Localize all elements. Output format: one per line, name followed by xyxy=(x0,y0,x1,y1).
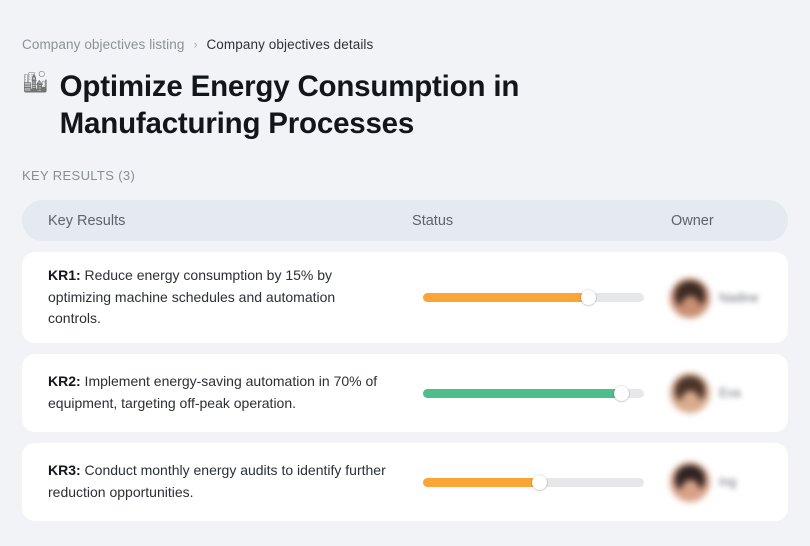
progress-slider[interactable] xyxy=(423,293,644,302)
progress-slider-fill xyxy=(423,478,540,487)
page-title-row: 🏙 Optimize Energy Consumption in Manufac… xyxy=(22,68,788,144)
owner-name: Ing xyxy=(719,475,736,489)
owner-cell[interactable]: Eva xyxy=(670,373,788,413)
table-header-row: Key Results Status Owner xyxy=(22,200,788,241)
breadcrumb: Company objectives listing › Company obj… xyxy=(22,0,788,52)
key-result-text: KR1: Reduce energy consumption by 15% by… xyxy=(22,265,412,330)
page-title: Optimize Energy Consumption in Manufactu… xyxy=(60,68,720,144)
progress-slider-handle[interactable] xyxy=(614,386,629,401)
owner-name: Eva xyxy=(719,386,741,400)
table-row[interactable]: KR3: Conduct monthly energy audits to id… xyxy=(22,443,788,521)
avatar-face xyxy=(681,480,700,502)
chevron-right-icon: › xyxy=(193,38,197,50)
key-result-description: Implement energy-saving automation in 70… xyxy=(48,373,377,411)
progress-slider-handle[interactable] xyxy=(532,475,547,490)
key-results-section-label: KEY RESULTS (3) xyxy=(22,168,788,183)
avatar xyxy=(670,278,710,318)
key-result-id: KR3: xyxy=(48,462,81,478)
progress-slider-fill xyxy=(423,293,589,302)
column-header-owner: Owner xyxy=(668,213,788,229)
breadcrumb-link-listing[interactable]: Company objectives listing xyxy=(22,38,184,52)
avatar xyxy=(670,373,710,413)
table-body: KR1: Reduce energy consumption by 15% by… xyxy=(22,252,788,521)
avatar-face xyxy=(681,296,700,318)
building-cityscape-icon: 🏙 xyxy=(22,68,49,98)
key-result-text: KR3: Conduct monthly energy audits to id… xyxy=(22,460,412,503)
table-row[interactable]: KR1: Reduce energy consumption by 15% by… xyxy=(22,252,788,343)
owner-cell[interactable]: Ing xyxy=(670,462,788,502)
status-cell xyxy=(412,293,670,302)
objective-details-page: Company objectives listing › Company obj… xyxy=(0,0,810,546)
key-result-id: KR1: xyxy=(48,267,81,283)
progress-slider-handle[interactable] xyxy=(581,290,596,305)
breadcrumb-current: Company objectives details xyxy=(206,38,373,52)
key-result-id: KR2: xyxy=(48,373,81,389)
avatar xyxy=(670,462,710,502)
status-cell xyxy=(412,389,670,398)
avatar-face xyxy=(681,391,700,413)
owner-cell[interactable]: Nadine xyxy=(670,278,788,318)
key-result-description: Conduct monthly energy audits to identif… xyxy=(48,462,386,500)
table-row[interactable]: KR2: Implement energy-saving automation … xyxy=(22,354,788,432)
progress-slider[interactable] xyxy=(423,478,644,487)
column-header-key-results: Key Results xyxy=(22,213,409,229)
key-result-description: Reduce energy consumption by 15% by opti… xyxy=(48,267,335,326)
key-result-text: KR2: Implement energy-saving automation … xyxy=(22,371,412,414)
column-header-status: Status xyxy=(409,213,668,229)
owner-name: Nadine xyxy=(719,291,759,305)
key-results-table: Key Results Status Owner KR1: Reduce ene… xyxy=(22,200,788,521)
status-cell xyxy=(412,478,670,487)
progress-slider[interactable] xyxy=(423,389,644,398)
progress-slider-fill xyxy=(423,389,622,398)
